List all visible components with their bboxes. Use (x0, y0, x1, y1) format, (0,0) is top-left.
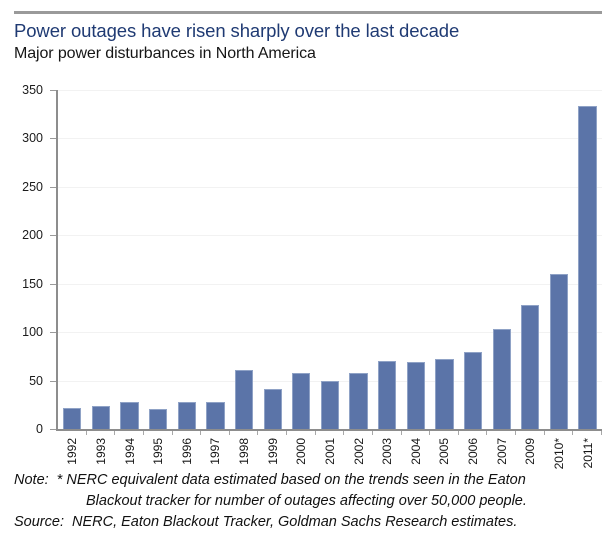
bar-cell (573, 90, 602, 429)
bar-cell (201, 90, 230, 429)
x-axis-tick-label: 1995 (151, 438, 165, 465)
bar-cell (144, 90, 173, 429)
x-axis-tick (144, 431, 173, 435)
x-axis-tick-label: 2003 (380, 438, 394, 465)
source-text: NERC, Eaton Blackout Tracker, Goldman Sa… (72, 512, 606, 533)
bar[interactable] (292, 373, 310, 429)
x-axis-tick (430, 431, 459, 435)
bar-cell (487, 90, 516, 429)
bar-cell (115, 90, 144, 429)
bar-cell (58, 90, 87, 429)
x-axis-tick-label: 2004 (409, 438, 423, 465)
y-axis-tick-label: 100 (3, 325, 43, 339)
bar-chart: 050100150200250300350 199219931994199519… (0, 80, 616, 465)
x-axis-tick (402, 431, 431, 435)
bar[interactable] (349, 373, 367, 429)
x-axis-tick-label: 1997 (208, 438, 222, 465)
x-axis-tick-label: 2010* (552, 438, 566, 469)
bar-cell (287, 90, 316, 429)
bar[interactable] (206, 402, 224, 429)
x-axis-tick-label: 2005 (437, 438, 451, 465)
bar-cell (430, 90, 459, 429)
y-axis-tick-label: 50 (3, 374, 43, 388)
x-axis-tick-label: 1992 (65, 438, 79, 465)
bar[interactable] (321, 381, 339, 429)
bar-cell (258, 90, 287, 429)
page-subtitle: Major power disturbances in North Americ… (14, 45, 316, 63)
bar[interactable] (264, 389, 282, 429)
y-axis-tick-label: 200 (3, 228, 43, 242)
x-axis-tick-label: 2001 (323, 438, 337, 465)
x-axis-tick (258, 431, 287, 435)
footnotes: Note: * NERC equivalent data estimated b… (14, 470, 606, 533)
page-title: Power outages have risen sharply over th… (14, 20, 459, 42)
note-text-line2: Blackout tracker for number of outages a… (86, 493, 527, 509)
bar-cell (87, 90, 116, 429)
bar[interactable] (407, 362, 425, 429)
y-axis-tick-label: 300 (3, 131, 43, 145)
source-label: Source: (14, 512, 72, 533)
x-axis-tick (373, 431, 402, 435)
x-axis-tick (545, 431, 574, 435)
bar[interactable] (578, 106, 596, 429)
source-row: Source: NERC, Eaton Blackout Tracker, Go… (14, 512, 606, 533)
x-axis-tick-label: 2009 (523, 438, 537, 465)
bar[interactable] (550, 274, 568, 429)
header-rule (14, 11, 602, 14)
x-axis-tick (173, 431, 202, 435)
bar[interactable] (493, 329, 511, 429)
x-axis-tick (344, 431, 373, 435)
x-axis-tick (573, 431, 602, 435)
x-axis-tick (459, 431, 488, 435)
bar[interactable] (120, 402, 138, 429)
x-axis-tick (287, 431, 316, 435)
y-axis-tick-label: 350 (3, 83, 43, 97)
x-axis-tick-label: 2006 (466, 438, 480, 465)
x-axis-tick-label: 1993 (94, 438, 108, 465)
bar[interactable] (464, 352, 482, 429)
bar[interactable] (235, 370, 253, 429)
x-axis-tick-label: 2007 (495, 438, 509, 465)
x-axis-tick-label: 1996 (180, 438, 194, 465)
y-axis-tick-label: 150 (3, 277, 43, 291)
y-axis-tick-label: 0 (3, 422, 43, 436)
bar-cell (316, 90, 345, 429)
x-axis-tick (487, 431, 516, 435)
note-text-line1: * NERC equivalent data estimated based o… (49, 470, 606, 491)
x-axis-tick (516, 431, 545, 435)
bar[interactable] (92, 406, 110, 429)
note-row: Note: * NERC equivalent data estimated b… (14, 470, 606, 491)
x-axis-tick-label: 1999 (266, 438, 280, 465)
bar[interactable] (149, 409, 167, 429)
chart-page: Power outages have risen sharply over th… (0, 0, 616, 542)
bar-series (58, 90, 602, 429)
bar[interactable] (178, 402, 196, 429)
x-axis-tick-label: 1998 (237, 438, 251, 465)
bar-cell (516, 90, 545, 429)
bar[interactable] (63, 408, 81, 429)
note-label: Note: (14, 470, 49, 491)
x-axis-tick-label: 2002 (352, 438, 366, 465)
bar-cell (545, 90, 574, 429)
x-axis-tick (201, 431, 230, 435)
bar-cell (344, 90, 373, 429)
x-axis-tick (58, 431, 87, 435)
bar-cell (459, 90, 488, 429)
bar-cell (230, 90, 259, 429)
bar-cell (402, 90, 431, 429)
bar[interactable] (378, 361, 396, 429)
bar[interactable] (521, 305, 539, 429)
bar[interactable] (435, 359, 453, 429)
x-axis-tick (115, 431, 144, 435)
x-axis-tick (87, 431, 116, 435)
bar-cell (373, 90, 402, 429)
x-axis-tick-label: 2011* (581, 438, 595, 468)
x-axis-ticks (58, 431, 602, 435)
x-axis-tick-label: 2000 (294, 438, 308, 465)
bar-cell (173, 90, 202, 429)
y-axis-tick-label: 250 (3, 180, 43, 194)
x-axis-tick (230, 431, 259, 435)
x-axis-tick-label: 1994 (123, 438, 137, 465)
x-axis-tick (316, 431, 345, 435)
note-text-line2-row: Blackout tracker for number of outages a… (14, 491, 606, 512)
